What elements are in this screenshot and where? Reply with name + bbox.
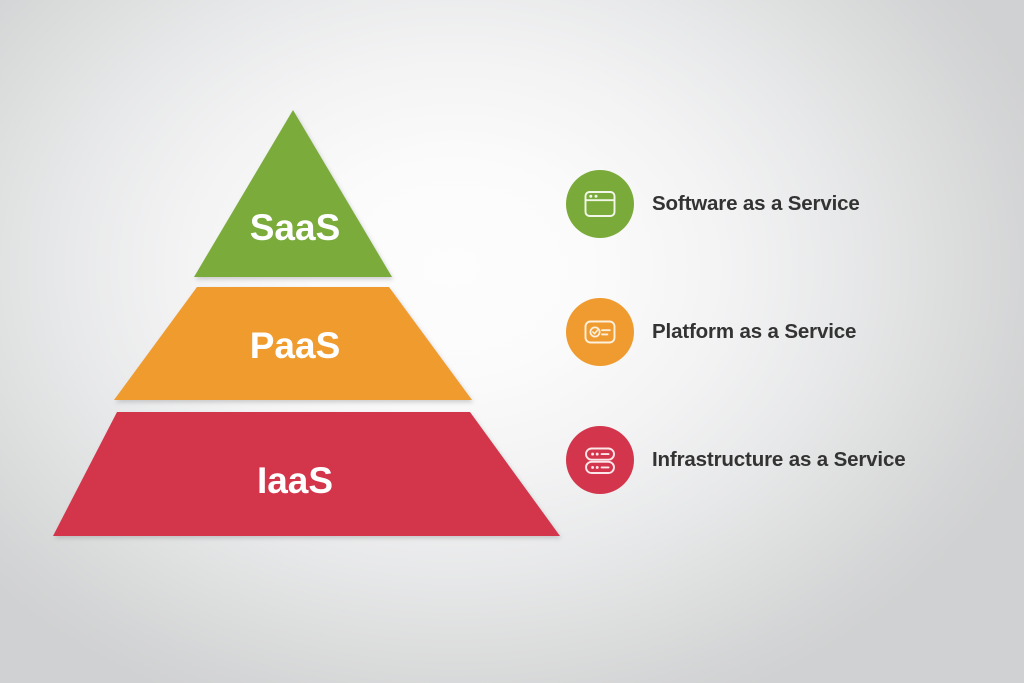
legend-label-iaas: Infrastructure as a Service xyxy=(652,450,905,471)
diagram-canvas: SaaS PaaS IaaS Software as a Servi xyxy=(0,0,1024,683)
legend-badge-paas[interactable] xyxy=(566,298,634,366)
browser-window-icon xyxy=(581,185,619,223)
legend-badge-iaas[interactable] xyxy=(566,426,634,494)
pyramid-layer-paas-label: PaaS xyxy=(250,325,341,366)
pyramid-layer-saas-label: SaaS xyxy=(250,207,341,248)
server-stack-icon xyxy=(581,441,619,479)
legend-item-iaas[interactable]: Infrastructure as a Service xyxy=(566,426,1006,494)
legend-item-paas[interactable]: Platform as a Service xyxy=(566,298,1006,366)
pyramid-layer-paas[interactable]: PaaS xyxy=(114,287,472,400)
pyramid-layer-iaas[interactable]: IaaS xyxy=(53,412,560,536)
pyramid-layer-saas-shape[interactable] xyxy=(194,110,392,277)
pyramid-layer-iaas-label: IaaS xyxy=(257,460,333,501)
legend-label-saas: Software as a Service xyxy=(652,194,860,215)
legend-badge-saas[interactable] xyxy=(566,170,634,238)
legend-label-paas: Platform as a Service xyxy=(652,322,856,343)
legend-list: Software as a Service Platform as a Serv… xyxy=(566,170,1006,494)
id-card-check-icon xyxy=(581,313,619,351)
legend-item-saas[interactable]: Software as a Service xyxy=(566,170,1006,238)
pyramid-layer-saas[interactable]: SaaS xyxy=(194,110,392,277)
